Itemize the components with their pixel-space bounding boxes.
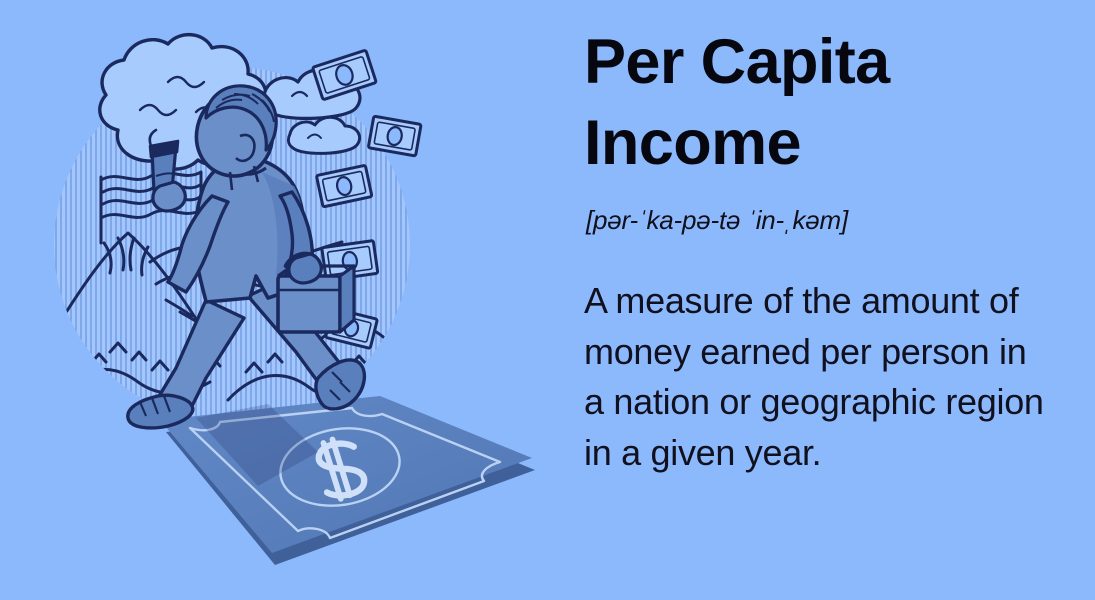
flying-banknote bbox=[313, 50, 377, 100]
illustration-panel bbox=[0, 0, 575, 600]
definition-text: A measure of the amount of money earned … bbox=[584, 276, 1054, 478]
term-title: Per Capita Income bbox=[584, 22, 1054, 184]
pronunciation: [pər-ˈka-pə-tə ˈin-ˌkəm] bbox=[586, 203, 848, 237]
definition-card: Per Capita Income [pər-ˈka-pə-tə ˈin-ˌkə… bbox=[0, 0, 1095, 600]
flying-banknote bbox=[368, 116, 421, 156]
text-panel: Per Capita Income [pər-ˈka-pə-tə ˈin-ˌkə… bbox=[584, 0, 1084, 600]
